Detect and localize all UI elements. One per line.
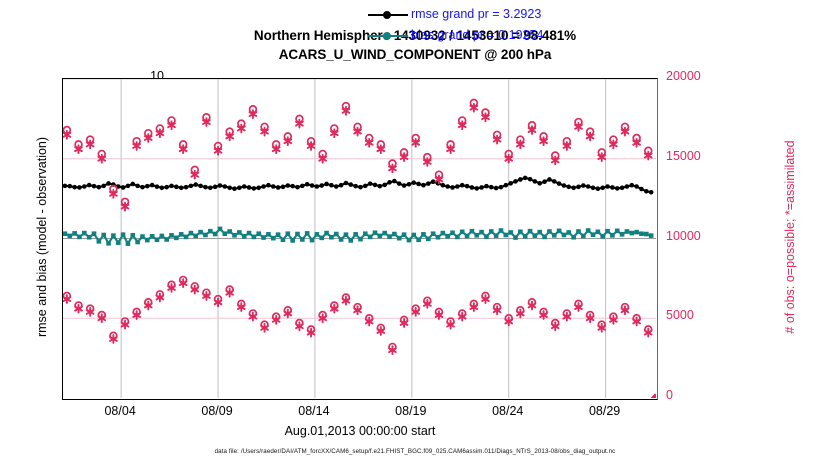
data-point-marker <box>431 231 436 236</box>
data-point-marker <box>339 183 344 188</box>
data-point-marker <box>319 183 324 188</box>
data-point-marker <box>402 232 407 237</box>
data-point-marker <box>450 185 455 190</box>
data-point-marker <box>426 237 431 242</box>
data-point-marker <box>77 185 82 190</box>
data-point-marker <box>319 236 324 241</box>
data-point-marker <box>155 237 160 242</box>
y-axis-right-label: # of obs: o=possible; *=assimilated <box>783 87 797 387</box>
data-point-marker <box>63 184 67 189</box>
data-point-marker <box>208 185 213 190</box>
plot-figure: Northern Hemisphere 1430932 / 1453010 = … <box>0 0 830 470</box>
y-axis-right-tick-label: 20000 <box>666 69 736 83</box>
series-end-marker <box>650 393 656 398</box>
data-point-marker <box>213 232 218 237</box>
data-point-marker <box>441 231 446 236</box>
data-point-marker <box>416 182 421 187</box>
data-point-marker <box>581 183 586 188</box>
data-point-marker <box>121 185 126 190</box>
data-point-marker <box>189 184 194 189</box>
x-axis-tick-label: 08/04 <box>104 404 135 418</box>
data-point-marker <box>620 185 625 190</box>
data-point-marker <box>160 185 165 190</box>
data-point-marker <box>184 185 189 190</box>
data-point-marker <box>441 183 446 188</box>
data-point-marker <box>160 234 165 239</box>
data-point-marker <box>218 183 223 188</box>
data-point-marker <box>237 230 242 235</box>
data-point-marker <box>629 231 634 236</box>
legend-item-label: rmse grand pr = 3.2923 <box>411 4 541 25</box>
data-point-marker <box>629 183 634 188</box>
data-point-marker <box>421 183 426 188</box>
plot-canvas <box>63 79 656 398</box>
legend-swatch-icon <box>368 9 408 21</box>
data-point-marker <box>281 185 286 190</box>
data-point-marker <box>193 234 198 239</box>
data-point-marker <box>324 182 329 187</box>
data-point-marker <box>533 179 538 184</box>
data-point-marker <box>203 185 208 190</box>
data-point-marker <box>145 238 150 243</box>
data-point-marker <box>373 183 378 188</box>
data-point-marker <box>504 233 509 238</box>
data-file-note: data file: /Users/raeder/DAI/ATM_forcXX/… <box>0 448 830 455</box>
plot-area <box>62 78 658 400</box>
data-point-marker <box>644 189 649 194</box>
data-point-marker <box>504 183 509 188</box>
data-point-marker <box>218 227 223 232</box>
data-point-marker <box>368 181 373 186</box>
data-point-marker <box>615 229 620 234</box>
data-point-marker <box>547 177 552 182</box>
data-point-marker <box>97 239 102 244</box>
series-rmse-grand-pr-3-2923 <box>63 176 653 195</box>
data-point-marker <box>121 232 126 237</box>
data-point-marker <box>397 236 402 241</box>
data-point-marker <box>223 231 228 236</box>
data-point-marker <box>484 234 489 239</box>
data-point-marker <box>150 234 155 239</box>
data-point-marker <box>518 177 523 182</box>
x-axis-tick-label: 08/14 <box>298 404 329 418</box>
series-bias-grand-pr-0-19254 <box>63 227 653 246</box>
data-point-marker <box>596 230 601 235</box>
data-point-marker <box>92 231 97 236</box>
plot-legend: rmse grand pr = 3.2923bias grand pr = 0.… <box>368 4 543 46</box>
data-point-marker <box>252 186 257 191</box>
data-point-marker <box>106 181 111 186</box>
data-point-marker <box>465 234 470 239</box>
data-point-marker <box>305 231 310 236</box>
data-point-marker <box>140 234 145 239</box>
data-point-marker <box>542 235 547 240</box>
data-point-marker <box>499 228 504 233</box>
data-point-marker <box>82 184 87 189</box>
data-point-marker <box>581 234 586 239</box>
data-point-marker <box>363 184 368 189</box>
data-point-marker <box>353 232 358 237</box>
data-point-marker <box>615 186 620 191</box>
data-point-marker <box>378 234 383 239</box>
x-axis-tick-label: 08/09 <box>201 404 232 418</box>
data-point-marker <box>484 184 489 189</box>
data-point-marker <box>620 232 625 237</box>
data-point-marker <box>130 233 135 238</box>
data-point-marker <box>276 185 281 190</box>
data-point-marker <box>164 185 169 190</box>
data-point-marker <box>436 235 441 240</box>
data-point-marker <box>261 184 266 189</box>
data-point-marker <box>329 235 334 240</box>
data-point-marker <box>566 230 571 235</box>
data-point-marker <box>489 229 494 234</box>
data-point-marker <box>213 185 218 190</box>
data-point-marker <box>92 184 97 189</box>
data-point-marker <box>378 184 383 189</box>
data-point-marker <box>208 229 213 234</box>
data-point-marker <box>198 184 203 189</box>
data-point-marker <box>135 184 140 189</box>
data-point-marker <box>557 181 562 186</box>
data-point-marker <box>329 183 334 188</box>
series-assimilated-obs-lower-band <box>63 279 651 354</box>
data-point-marker <box>101 184 106 189</box>
data-point-marker <box>82 231 87 236</box>
data-point-marker <box>576 229 581 234</box>
data-point-marker <box>247 231 252 236</box>
data-point-marker <box>193 182 198 187</box>
data-point-marker <box>474 186 479 191</box>
data-point-marker <box>460 183 465 188</box>
data-point-marker <box>407 238 412 243</box>
data-point-marker <box>164 237 169 242</box>
data-point-marker <box>305 182 310 187</box>
data-point-marker <box>411 233 416 238</box>
data-point-marker <box>455 184 460 189</box>
data-point-marker <box>470 229 475 234</box>
obs-diamond-marker <box>650 393 656 398</box>
data-point-marker <box>324 231 329 236</box>
data-point-marker <box>300 184 305 189</box>
data-point-marker <box>513 179 518 184</box>
data-point-marker <box>625 184 630 189</box>
data-point-marker <box>155 184 160 189</box>
data-point-marker <box>596 186 601 191</box>
data-point-marker <box>450 230 455 235</box>
data-point-marker <box>135 240 140 245</box>
data-point-marker <box>67 234 72 239</box>
data-point-marker <box>610 233 615 238</box>
legend-swatch-icon <box>368 30 408 42</box>
legend-item-bias[interactable]: bias grand pr = 0.19254 <box>368 25 543 46</box>
data-point-marker <box>586 184 591 189</box>
x-axis-tick-label: 08/19 <box>395 404 426 418</box>
data-point-marker <box>198 230 203 235</box>
data-point-marker <box>237 185 242 190</box>
data-point-marker <box>77 235 82 240</box>
data-point-marker <box>256 231 261 236</box>
data-point-marker <box>281 237 286 242</box>
data-point-marker <box>252 235 257 240</box>
data-point-marker <box>600 234 605 239</box>
data-point-marker <box>174 236 179 241</box>
data-point-marker <box>358 237 363 242</box>
data-point-marker <box>179 232 184 237</box>
data-point-marker <box>111 233 116 238</box>
data-point-marker <box>571 185 576 190</box>
data-point-marker <box>562 233 567 238</box>
data-point-marker <box>261 235 266 240</box>
data-point-marker <box>223 184 228 189</box>
data-point-marker <box>315 184 320 189</box>
data-point-marker <box>547 229 552 234</box>
data-point-marker <box>290 238 295 243</box>
data-point-marker <box>232 186 237 191</box>
data-point-marker <box>106 241 111 246</box>
data-point-marker <box>523 176 528 181</box>
y-axis-right-tick-label: 0 <box>666 388 736 402</box>
data-point-marker <box>552 179 557 184</box>
data-point-marker <box>518 230 523 235</box>
data-point-marker <box>339 237 344 242</box>
data-point-marker <box>402 183 407 188</box>
data-point-marker <box>416 237 421 242</box>
data-point-marker <box>276 232 281 237</box>
data-point-marker <box>407 182 412 187</box>
data-point-marker <box>247 185 252 190</box>
series-possible-obs-o-upper-band <box>63 100 651 206</box>
data-point-marker <box>382 231 387 236</box>
data-point-marker <box>358 185 363 190</box>
data-point-marker <box>591 185 596 190</box>
data-point-marker <box>368 235 373 240</box>
data-point-marker <box>266 232 271 237</box>
data-point-marker <box>552 233 557 238</box>
data-point-marker <box>634 230 639 235</box>
data-point-marker <box>169 184 174 189</box>
data-point-marker <box>392 179 397 184</box>
data-point-marker <box>242 184 247 189</box>
data-point-marker <box>460 230 465 235</box>
data-point-marker <box>300 237 305 242</box>
data-point-marker <box>411 180 416 185</box>
data-point-marker <box>605 229 610 234</box>
data-point-marker <box>232 233 237 238</box>
data-point-marker <box>344 181 349 186</box>
y-axis-left-label: rmse and bias (model - observation) <box>35 87 49 387</box>
data-point-marker <box>387 180 392 185</box>
x-axis-label: Aug.01,2013 00:00:00 start <box>62 424 658 438</box>
data-point-marker <box>508 230 513 235</box>
data-point-marker <box>634 184 639 189</box>
data-point-marker <box>344 232 349 237</box>
data-point-marker <box>140 185 145 190</box>
data-point-marker <box>455 235 460 240</box>
data-point-marker <box>227 185 232 190</box>
data-point-marker <box>465 184 470 189</box>
data-point-marker <box>625 229 630 234</box>
data-point-marker <box>639 187 644 192</box>
data-point-marker <box>644 232 649 237</box>
data-point-marker <box>126 241 131 246</box>
data-point-marker <box>470 185 475 190</box>
data-point-marker <box>290 184 295 189</box>
data-point-marker <box>97 185 102 190</box>
data-point-marker <box>87 235 92 240</box>
data-point-marker <box>528 229 533 234</box>
data-point-marker <box>586 228 591 233</box>
x-axis-tick-label: 08/29 <box>589 404 620 418</box>
data-point-marker <box>591 232 596 237</box>
data-point-marker <box>63 231 67 236</box>
x-axis-tick-label: 08/24 <box>492 404 523 418</box>
data-point-marker <box>562 183 567 188</box>
data-point-marker <box>184 235 189 240</box>
data-point-marker <box>315 232 320 237</box>
data-point-marker <box>600 185 605 190</box>
data-point-marker <box>392 232 397 237</box>
data-point-marker <box>242 234 247 239</box>
data-point-marker <box>348 238 353 243</box>
data-point-marker <box>87 183 92 188</box>
data-point-marker <box>605 184 610 189</box>
data-point-marker <box>310 238 315 243</box>
legend-item-label: bias grand pr = 0.19254 <box>411 25 543 46</box>
data-point-marker <box>353 184 358 189</box>
data-point-marker <box>533 233 538 238</box>
title-line-2: ACARS_U_WIND_COMPONENT @ 200 hPa <box>0 45 830 64</box>
data-point-marker <box>610 185 615 190</box>
data-point-marker <box>227 229 232 234</box>
data-point-marker <box>397 181 402 186</box>
data-point-marker <box>126 184 131 189</box>
data-point-marker <box>130 182 135 187</box>
data-point-marker <box>387 234 392 239</box>
data-point-marker <box>537 181 542 186</box>
data-point-marker <box>474 233 479 238</box>
data-point-marker <box>179 185 184 190</box>
data-point-marker <box>101 233 106 238</box>
y-axis-right-tick-label: 5000 <box>666 308 736 322</box>
data-point-marker <box>295 232 300 237</box>
data-point-marker <box>649 233 654 238</box>
data-point-marker <box>508 181 513 186</box>
data-point-marker <box>557 229 562 234</box>
data-point-marker <box>513 235 518 240</box>
data-point-marker <box>528 177 533 182</box>
data-point-marker <box>445 234 450 239</box>
data-point-marker <box>271 184 276 189</box>
data-point-marker <box>72 231 77 236</box>
data-point-marker <box>494 233 499 238</box>
data-point-marker <box>150 183 155 188</box>
data-point-marker <box>494 186 499 191</box>
data-point-marker <box>363 231 368 236</box>
data-point-marker <box>72 185 77 190</box>
data-point-marker <box>285 183 290 188</box>
data-point-marker <box>310 183 315 188</box>
data-point-marker <box>174 185 179 190</box>
data-point-marker <box>445 184 450 189</box>
data-point-marker <box>523 234 528 239</box>
data-point-marker <box>499 185 504 190</box>
data-point-marker <box>479 230 484 235</box>
data-point-marker <box>169 233 174 238</box>
data-point-marker <box>373 230 378 235</box>
data-point-marker <box>285 231 290 236</box>
data-point-marker <box>334 184 339 189</box>
data-point-marker <box>67 184 72 189</box>
data-point-marker <box>145 184 150 189</box>
data-point-marker <box>116 240 121 245</box>
data-point-marker <box>189 231 194 236</box>
data-point-marker <box>382 183 387 188</box>
data-point-marker <box>295 185 300 190</box>
data-point-marker <box>489 185 494 190</box>
y-axis-right-tick-label: 15000 <box>666 149 736 163</box>
data-point-marker <box>571 235 576 240</box>
data-point-marker <box>334 232 339 237</box>
data-point-marker <box>271 236 276 241</box>
data-point-marker <box>566 185 571 190</box>
data-point-marker <box>649 190 654 195</box>
legend-item-rmse[interactable]: rmse grand pr = 3.2923 <box>368 4 543 25</box>
data-point-marker <box>576 185 581 190</box>
data-point-marker <box>542 179 547 184</box>
data-point-marker <box>348 182 353 187</box>
data-point-marker <box>639 231 644 236</box>
data-point-marker <box>203 233 208 238</box>
series-assimilated-obs-upper-band <box>63 104 651 211</box>
data-point-marker <box>256 185 261 190</box>
data-point-marker <box>426 181 431 186</box>
y-axis-right-tick-label: 10000 <box>666 229 736 243</box>
data-point-marker <box>266 183 271 188</box>
data-point-marker <box>479 185 484 190</box>
data-point-marker <box>537 230 542 235</box>
data-point-marker <box>421 232 426 237</box>
